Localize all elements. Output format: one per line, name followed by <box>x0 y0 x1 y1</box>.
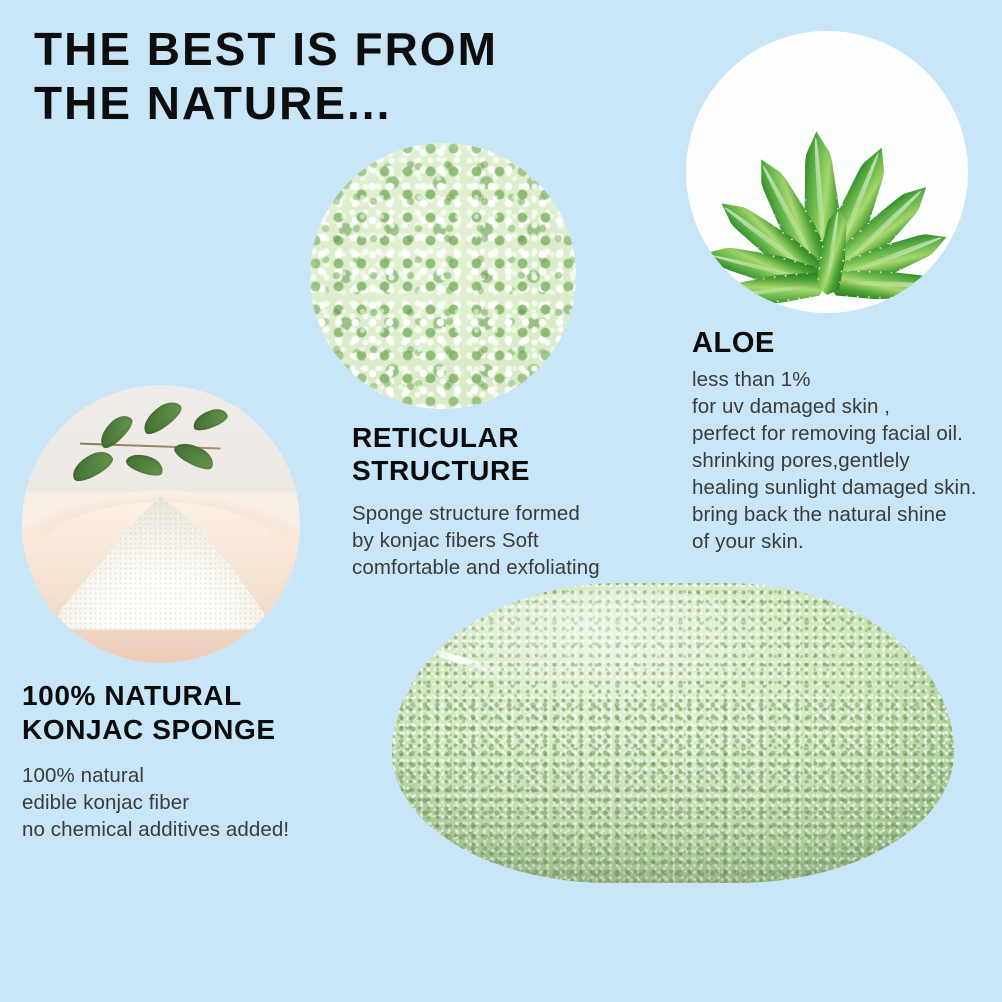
leaf-sprig-icon <box>63 396 242 502</box>
aloe-heading-line: ALOE <box>692 327 775 360</box>
aloe-desc-line: of your skin. <box>692 528 992 555</box>
konjac-sponge-product-photo <box>392 583 954 883</box>
aloe-desc-line: for uv damaged skin , <box>692 393 992 420</box>
headline-line-1: THE BEST IS FROM <box>34 22 594 76</box>
sprig-leaf-icon <box>172 437 218 474</box>
konjac-description: 100% natural edible konjac fiber no chem… <box>22 762 322 843</box>
konjac-heading-line: KONJAC SPONGE <box>22 713 276 747</box>
sprig-leaf-icon <box>190 406 229 433</box>
reticular-desc-line: Sponge structure formed <box>352 500 632 527</box>
reticular-heading-line: RETICULAR <box>352 421 530 454</box>
konjac-desc-line: no chemical additives added! <box>22 816 322 843</box>
aloe-photo-clip <box>686 31 968 313</box>
reticular-heading-line: STRUCTURE <box>352 454 530 487</box>
aloe-leaf-icon <box>826 269 945 302</box>
konjac-powder-photo <box>22 385 300 663</box>
aloe-desc-line: perfect for removing facial oil. <box>692 420 992 447</box>
reticular-desc-line: by konjac fibers Soft <box>352 527 632 554</box>
reticular-description: Sponge structure formed by konjac fibers… <box>352 500 632 581</box>
aloe-desc-line: less than 1% <box>692 366 992 393</box>
sponge-macro-photo <box>310 143 576 409</box>
konjac-heading-line: 100% NATURAL <box>22 679 276 713</box>
konjac-desc-line: edible konjac fiber <box>22 789 322 816</box>
aloe-description: less than 1% for uv damaged skin , perfe… <box>692 366 992 555</box>
aloe-plant-photo <box>686 31 968 313</box>
product-infographic: THE BEST IS FROM THE NATURE... ALOE less… <box>0 0 1002 1002</box>
aloe-desc-line: healing sunlight damaged skin. <box>692 474 992 501</box>
reticular-heading: RETICULAR STRUCTURE <box>352 421 530 487</box>
dome-bottom-shading <box>392 583 954 883</box>
headline-line-2: THE NATURE... <box>34 76 594 130</box>
sprig-leaf-icon <box>138 396 186 437</box>
konjac-desc-line: 100% natural <box>22 762 322 789</box>
sprig-leaf-icon <box>69 446 118 484</box>
aloe-desc-line: bring back the natural shine <box>692 501 992 528</box>
aloe-heading: ALOE <box>692 327 775 360</box>
konjac-heading: 100% NATURAL KONJAC SPONGE <box>22 679 276 747</box>
sprig-leaf-icon <box>124 449 166 480</box>
reticular-desc-line: comfortable and exfoliating <box>352 554 632 581</box>
page-title: THE BEST IS FROM THE NATURE... <box>34 22 594 130</box>
photo-vignette <box>310 143 576 409</box>
aloe-desc-line: shrinking pores,gentlely <box>692 447 992 474</box>
